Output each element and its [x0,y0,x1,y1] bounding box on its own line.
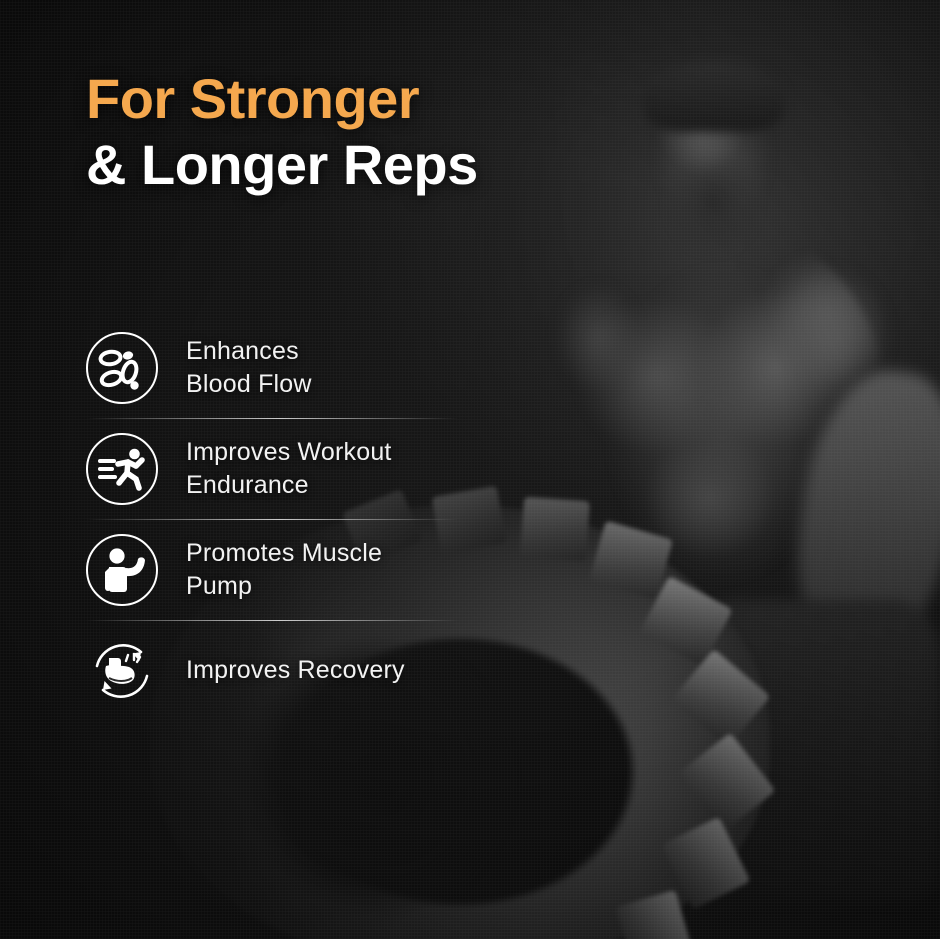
benefit-item-recovery: Improves Recovery [84,621,464,721]
headline-line-2: & Longer Reps [86,132,478,198]
running-person-icon [84,431,160,507]
benefit-label: Improves Recovery [186,654,405,687]
benefit-label: Promotes Muscle Pump [186,537,382,604]
benefit-item-blood-flow: Enhances Blood Flow [84,318,464,418]
blood-cells-icon [84,330,160,406]
benefit-item-muscle-pump: Promotes Muscle Pump [84,520,464,620]
benefit-label: Improves Workout Endurance [186,436,392,503]
bicep-refresh-icon [84,633,160,709]
page-title: For Stronger & Longer Reps [86,66,478,198]
benefits-list: Enhances Blood Flow [84,318,464,721]
promo-poster: For Stronger & Longer Reps [0,0,940,939]
benefit-label: Enhances Blood Flow [186,335,312,402]
headline-line-1: For Stronger [86,66,478,132]
flexing-person-icon [84,532,160,608]
benefit-item-endurance: Improves Workout Endurance [84,419,464,519]
